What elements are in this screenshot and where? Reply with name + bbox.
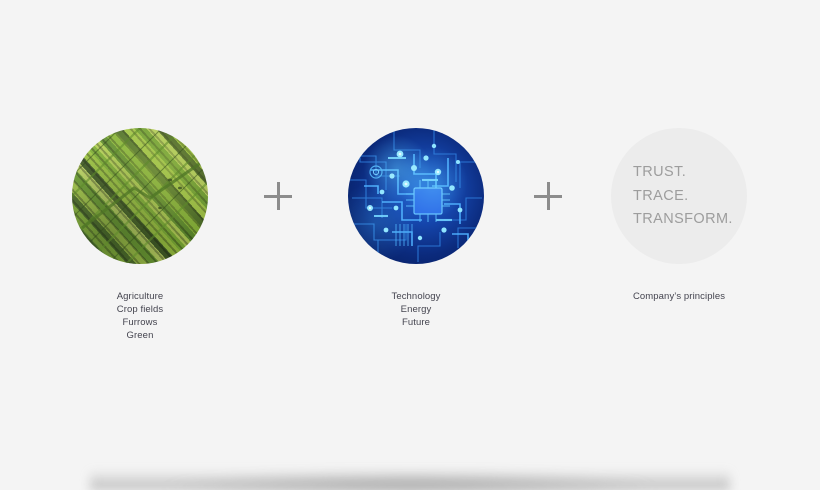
caption-line: Crop fields [60,303,220,316]
bottom-shadow-band [90,470,730,490]
principles-circle: TRUST. TRACE. TRANSFORM. [611,128,747,264]
technology-circle-image [348,128,484,264]
caption-principles: Company’s principles [599,290,759,303]
caption-line: Company’s principles [599,290,759,303]
slogan-line-2: TRACE. [633,185,747,209]
caption-line: Future [336,316,496,329]
slogan-line-1: TRUST. [633,161,747,185]
caption-line: Agriculture [60,290,220,303]
concept-node-technology[interactable] [348,128,484,264]
plus-operator-icon-2 [534,182,562,210]
plus-operator-icon-1 [264,182,292,210]
concept-node-agriculture[interactable] [72,128,208,264]
caption-line: Technology [336,290,496,303]
concept-node-principles[interactable]: TRUST. TRACE. TRANSFORM. [611,128,747,264]
caption-agriculture: Agriculture Crop fields Furrows Green [60,290,220,342]
circuit-glow-overlay [348,128,484,264]
caption-technology: Technology Energy Future [336,290,496,329]
slogan-block: TRUST. TRACE. TRANSFORM. [633,161,747,232]
slogan-line-3: TRANSFORM. [633,208,747,232]
caption-line: Green [60,329,220,342]
concept-canvas: TRUST. TRACE. TRANSFORM. Agriculture Cro… [0,0,820,487]
agriculture-circle-image [72,128,208,264]
agriculture-track-lines [72,128,208,264]
plus-bar-vertical [277,182,280,210]
plus-bar-vertical [547,182,550,210]
caption-line: Energy [336,303,496,316]
caption-line: Furrows [60,316,220,329]
